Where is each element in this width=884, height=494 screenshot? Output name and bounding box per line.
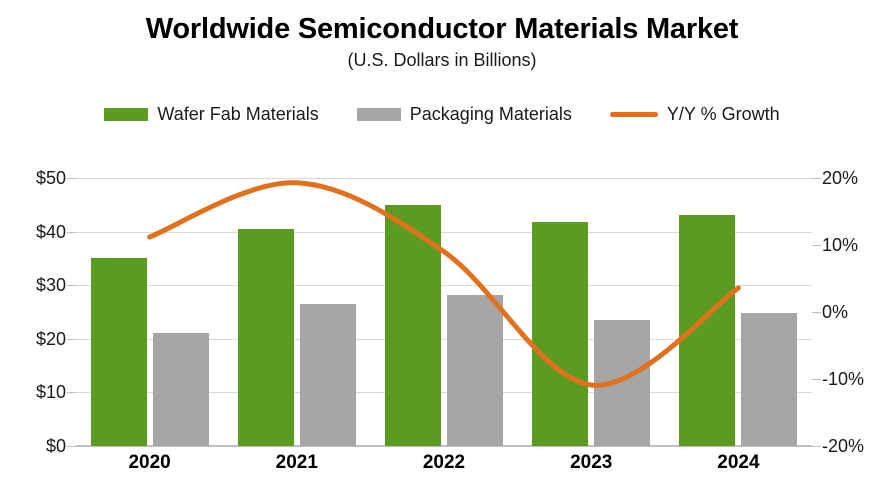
right-axis-tick — [812, 178, 821, 179]
line-swatch-orange-icon — [610, 112, 658, 117]
right-axis-labels: -20%-10%0%10%20% — [822, 178, 884, 446]
right-axis-tick-label: 10% — [822, 236, 858, 254]
x-axis-labels: 20202021202220232024 — [76, 452, 812, 474]
right-axis-tick — [812, 245, 821, 246]
legend-item-wafer-fab[interactable]: Wafer Fab Materials — [104, 104, 318, 125]
title-block: Worldwide Semiconductor Materials Market… — [0, 12, 884, 72]
legend-label-growth: Y/Y % Growth — [667, 104, 780, 125]
right-axis-tick — [812, 312, 821, 313]
growth-line-path — [150, 183, 739, 386]
right-axis-tick — [812, 379, 821, 380]
right-axis-tick-label: 0% — [822, 303, 848, 321]
x-axis-label-2023: 2023 — [518, 452, 665, 474]
square-swatch-gray-icon — [357, 108, 401, 121]
x-axis-label-2022: 2022 — [370, 452, 517, 474]
square-swatch-green-icon — [104, 108, 148, 121]
x-axis-label-2021: 2021 — [223, 452, 370, 474]
left-axis-tick-label: $40 — [36, 223, 66, 241]
chart-subtitle: (U.S. Dollars in Billions) — [0, 48, 884, 72]
legend-label-packaging: Packaging Materials — [410, 104, 572, 125]
right-axis-tick-label: -20% — [822, 437, 864, 455]
x-axis-label-2024: 2024 — [665, 452, 812, 474]
x-axis-label-2020: 2020 — [76, 452, 223, 474]
left-axis-tick-label: $10 — [36, 383, 66, 401]
legend-item-growth[interactable]: Y/Y % Growth — [610, 104, 780, 125]
chart-legend: Wafer Fab Materials Packaging Materials … — [0, 104, 884, 125]
left-axis-tick — [67, 339, 76, 340]
left-axis-tick-label: $30 — [36, 276, 66, 294]
left-axis-tick — [67, 178, 76, 179]
left-axis-labels: $0$10$20$30$40$50 — [0, 178, 66, 446]
plot-area — [76, 178, 812, 446]
legend-label-wafer-fab: Wafer Fab Materials — [157, 104, 318, 125]
left-axis-tick-label: $0 — [46, 437, 66, 455]
legend-item-packaging[interactable]: Packaging Materials — [357, 104, 572, 125]
left-axis-tick — [67, 392, 76, 393]
chart-title: Worldwide Semiconductor Materials Market — [0, 12, 884, 46]
growth-line-series — [76, 178, 812, 446]
left-axis-tick-label: $20 — [36, 330, 66, 348]
left-axis-tick — [67, 446, 76, 447]
left-axis-tick — [67, 285, 76, 286]
chart-container: Worldwide Semiconductor Materials Market… — [0, 0, 884, 494]
left-axis-tick-label: $50 — [36, 169, 66, 187]
right-axis-tick-label: 20% — [822, 169, 858, 187]
right-axis-tick-label: -10% — [822, 370, 864, 388]
right-axis-tick — [812, 446, 821, 447]
left-axis-tick — [67, 232, 76, 233]
